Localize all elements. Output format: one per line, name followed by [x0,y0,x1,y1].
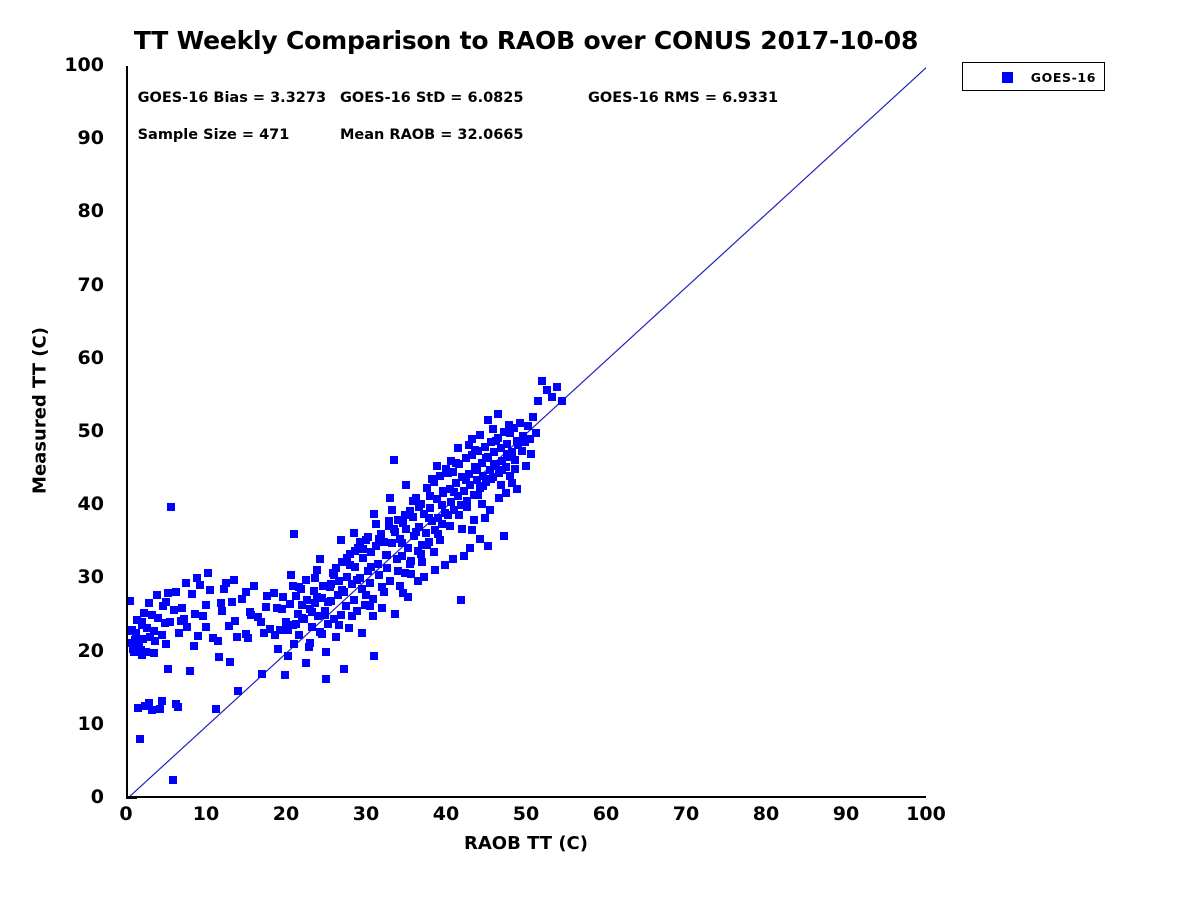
data-point [274,645,282,653]
y-tick-label: 40 [34,495,104,514]
data-point [228,598,236,606]
data-point [383,551,391,559]
data-point [327,580,335,588]
data-point [372,520,380,528]
data-point [428,475,436,483]
data-point [302,659,310,667]
stat-sample-size: Sample Size = 471 [138,127,290,143]
data-point [353,576,361,584]
data-point [321,611,329,619]
data-point [476,431,484,439]
data-point [289,582,297,590]
data-point [513,485,521,493]
data-point [487,475,495,483]
data-point [350,529,358,537]
data-point [446,522,454,530]
data-point [532,429,540,437]
data-point [313,566,321,574]
data-point [436,536,444,544]
x-tick-label: 100 [886,805,966,824]
data-point [383,564,391,572]
data-point [375,571,383,579]
data-point [220,585,228,593]
data-point [316,555,324,563]
stat-mean-raob: Mean RAOB = 32.0665 [340,127,523,143]
data-point [158,697,166,705]
data-point [529,413,537,421]
data-point [449,555,457,563]
legend-marker-goes-16 [1002,72,1013,83]
data-point [454,444,462,452]
data-point [150,627,158,635]
data-point [518,447,526,455]
data-point [402,481,410,489]
data-point [548,393,556,401]
data-point [172,700,180,708]
data-point [511,456,519,464]
data-point [202,601,210,609]
data-point [290,640,298,648]
data-point [441,561,449,569]
data-point [479,482,487,490]
data-point [330,571,338,579]
x-tick-label: 50 [486,805,566,824]
data-point [217,599,225,607]
data-point [505,421,513,429]
data-point [415,503,423,511]
data-point [292,592,300,600]
stat-std: GOES-16 StD = 6.0825 [340,90,523,106]
data-point [484,542,492,550]
data-point [345,624,353,632]
data-point [191,610,199,618]
data-point [126,597,134,605]
data-point [194,632,202,640]
x-tick-label: 80 [726,805,806,824]
data-point [366,579,374,587]
y-tick-label: 30 [34,568,104,587]
data-point [497,481,505,489]
data-point [231,617,239,625]
y-tick-label: 90 [34,129,104,148]
x-tick-label: 70 [646,805,726,824]
data-point [388,539,396,547]
data-point [426,492,434,500]
data-point [164,665,172,673]
data-point [215,653,223,661]
data-point [482,454,490,462]
data-point [324,598,332,606]
legend-label-goes-16: GOES-16 [1031,70,1096,85]
x-tick-label: 10 [166,805,246,824]
data-point [401,511,409,519]
data-point [131,636,139,644]
data-point [370,652,378,660]
data-point [338,586,346,594]
data-point [399,589,407,597]
data-point [244,634,252,642]
data-point [308,608,316,616]
data-point [492,437,500,445]
data-point [164,589,172,597]
x-tick-label: 40 [406,805,486,824]
data-point [553,383,561,391]
data-point [466,544,474,552]
data-point [138,618,146,626]
data-point [178,604,186,612]
data-point [284,652,292,660]
y-axis-label: Measured TT (C) [30,311,51,511]
y-tick-label: 50 [34,422,104,441]
data-point [366,602,374,610]
stat-bias: GOES-16 Bias = 3.3273 [138,90,326,106]
data-point [188,590,196,598]
data-point [337,536,345,544]
data-point [433,462,441,470]
data-point [177,617,185,625]
data-point [458,525,466,533]
x-tick-label: 90 [806,805,886,824]
data-point [390,456,398,464]
data-point [367,563,375,571]
data-point [281,671,289,679]
x-tick-label: 30 [326,805,406,824]
data-point [486,506,494,514]
data-point [313,593,321,601]
data-point [436,472,444,480]
data-point [438,520,446,528]
data-point [186,667,194,675]
data-point [422,529,430,537]
data-point [489,425,497,433]
data-point [406,560,414,568]
data-point [364,533,372,541]
data-point [386,577,394,585]
data-point [452,459,460,467]
data-point [474,491,482,499]
data-point [230,576,238,584]
data-point [306,639,314,647]
data-point [455,511,463,519]
data-point [484,416,492,424]
x-tick-label: 0 [86,805,166,824]
data-point [250,582,258,590]
data-point [407,570,415,578]
data-point [158,631,166,639]
data-point [375,535,383,543]
data-point [190,642,198,650]
data-point [439,487,447,495]
data-point [342,602,350,610]
data-point [498,466,506,474]
data-point [318,630,326,638]
data-point [212,705,220,713]
data-point [527,450,535,458]
data-point [391,610,399,618]
data-point [322,675,330,683]
data-point [162,640,170,648]
data-point [166,618,174,626]
data-point [169,776,177,784]
data-point [468,526,476,534]
data-point [426,504,434,512]
y-tick-label: 10 [34,715,104,734]
data-point [473,466,481,474]
data-point [311,574,319,582]
data-point [337,611,345,619]
y-tick-label: 70 [34,276,104,295]
data-point [199,612,207,620]
data-point [284,626,292,634]
data-point [206,586,214,594]
data-point [271,631,279,639]
data-point [332,633,340,641]
data-point [468,435,476,443]
data-point [286,600,294,608]
data-point [524,422,532,430]
data-point [247,611,255,619]
data-point [534,397,542,405]
data-point [238,595,246,603]
data-point [516,419,524,427]
y-tick-label: 100 [34,56,104,75]
data-point [398,539,406,547]
data-point [470,516,478,524]
data-point [398,552,406,560]
data-point [175,629,183,637]
data-point [226,658,234,666]
data-point [167,503,175,511]
data-point [150,649,158,657]
data-point [409,513,417,521]
data-point [522,462,530,470]
data-point [148,706,156,714]
data-point [260,629,268,637]
data-point [378,604,386,612]
data-point [234,687,242,695]
data-point [502,489,510,497]
y-tick-label: 80 [34,202,104,221]
data-point [369,612,377,620]
data-point [370,510,378,518]
data-point [503,450,511,458]
data-point [214,637,222,645]
data-point [425,514,433,522]
data-point [233,633,241,641]
data-point [494,410,502,418]
data-point [476,535,484,543]
data-point [204,569,212,577]
data-point [490,460,498,468]
data-point [500,532,508,540]
data-point [503,440,511,448]
data-point [303,596,311,604]
data-point [402,525,410,533]
data-point [335,621,343,629]
data-point [348,612,356,620]
data-point [463,503,471,511]
data-point [380,588,388,596]
data-point [258,670,266,678]
data-point [558,397,566,405]
data-point [471,446,479,454]
data-point [431,566,439,574]
data-point [263,592,271,600]
data-point [290,530,298,538]
data-point [153,591,161,599]
data-point [359,554,367,562]
data-point [396,582,404,590]
data-point [386,494,394,502]
stat-rms: GOES-16 RMS = 6.9331 [588,90,778,106]
data-point [136,735,144,743]
data-point [372,542,380,550]
data-point [462,476,470,484]
data-point [457,596,465,604]
data-point [478,500,486,508]
data-point [218,607,226,615]
data-point [340,665,348,673]
data-point [308,623,316,631]
data-point [388,506,396,514]
data-point [359,545,367,553]
data-point [481,514,489,522]
data-point [444,469,452,477]
x-tick-label: 20 [246,805,326,824]
data-point [142,648,150,656]
y-tick-label: 60 [34,349,104,368]
data-point [242,588,250,596]
legend[interactable]: GOES-16 [962,62,1105,91]
data-point [162,598,170,606]
data-point [295,631,303,639]
data-point [412,528,420,536]
data-point [156,705,164,713]
data-point [170,606,178,614]
data-point [322,648,330,656]
data-point [172,588,180,596]
x-tick-label: 60 [566,805,646,824]
data-point [362,591,370,599]
data-point [346,561,354,569]
data-point [430,548,438,556]
data-point [140,609,148,617]
data-point [418,558,426,566]
data-point [438,501,446,509]
page-title: TT Weekly Comparison to RAOB over CONUS … [126,26,926,55]
data-point [450,488,458,496]
data-point [257,618,265,626]
data-point [262,603,270,611]
plot-area [126,66,926,798]
data-point [417,550,425,558]
data-point [351,547,359,555]
data-point [287,571,295,579]
data-point [145,599,153,607]
data-point [278,605,286,613]
scatter-plot-figure: TT Weekly Comparison to RAOB over CONUS … [0,0,1200,900]
data-point [193,574,201,582]
data-point [202,623,210,631]
data-point [538,377,546,385]
data-point [460,552,468,560]
data-point [182,579,190,587]
data-point [394,567,402,575]
x-axis-label: RAOB TT (C) [126,833,926,854]
data-point [390,525,398,533]
data-point [420,573,428,581]
data-point [358,629,366,637]
data-point [292,620,300,628]
data-point [350,596,358,604]
y-tick-label: 20 [34,642,104,661]
